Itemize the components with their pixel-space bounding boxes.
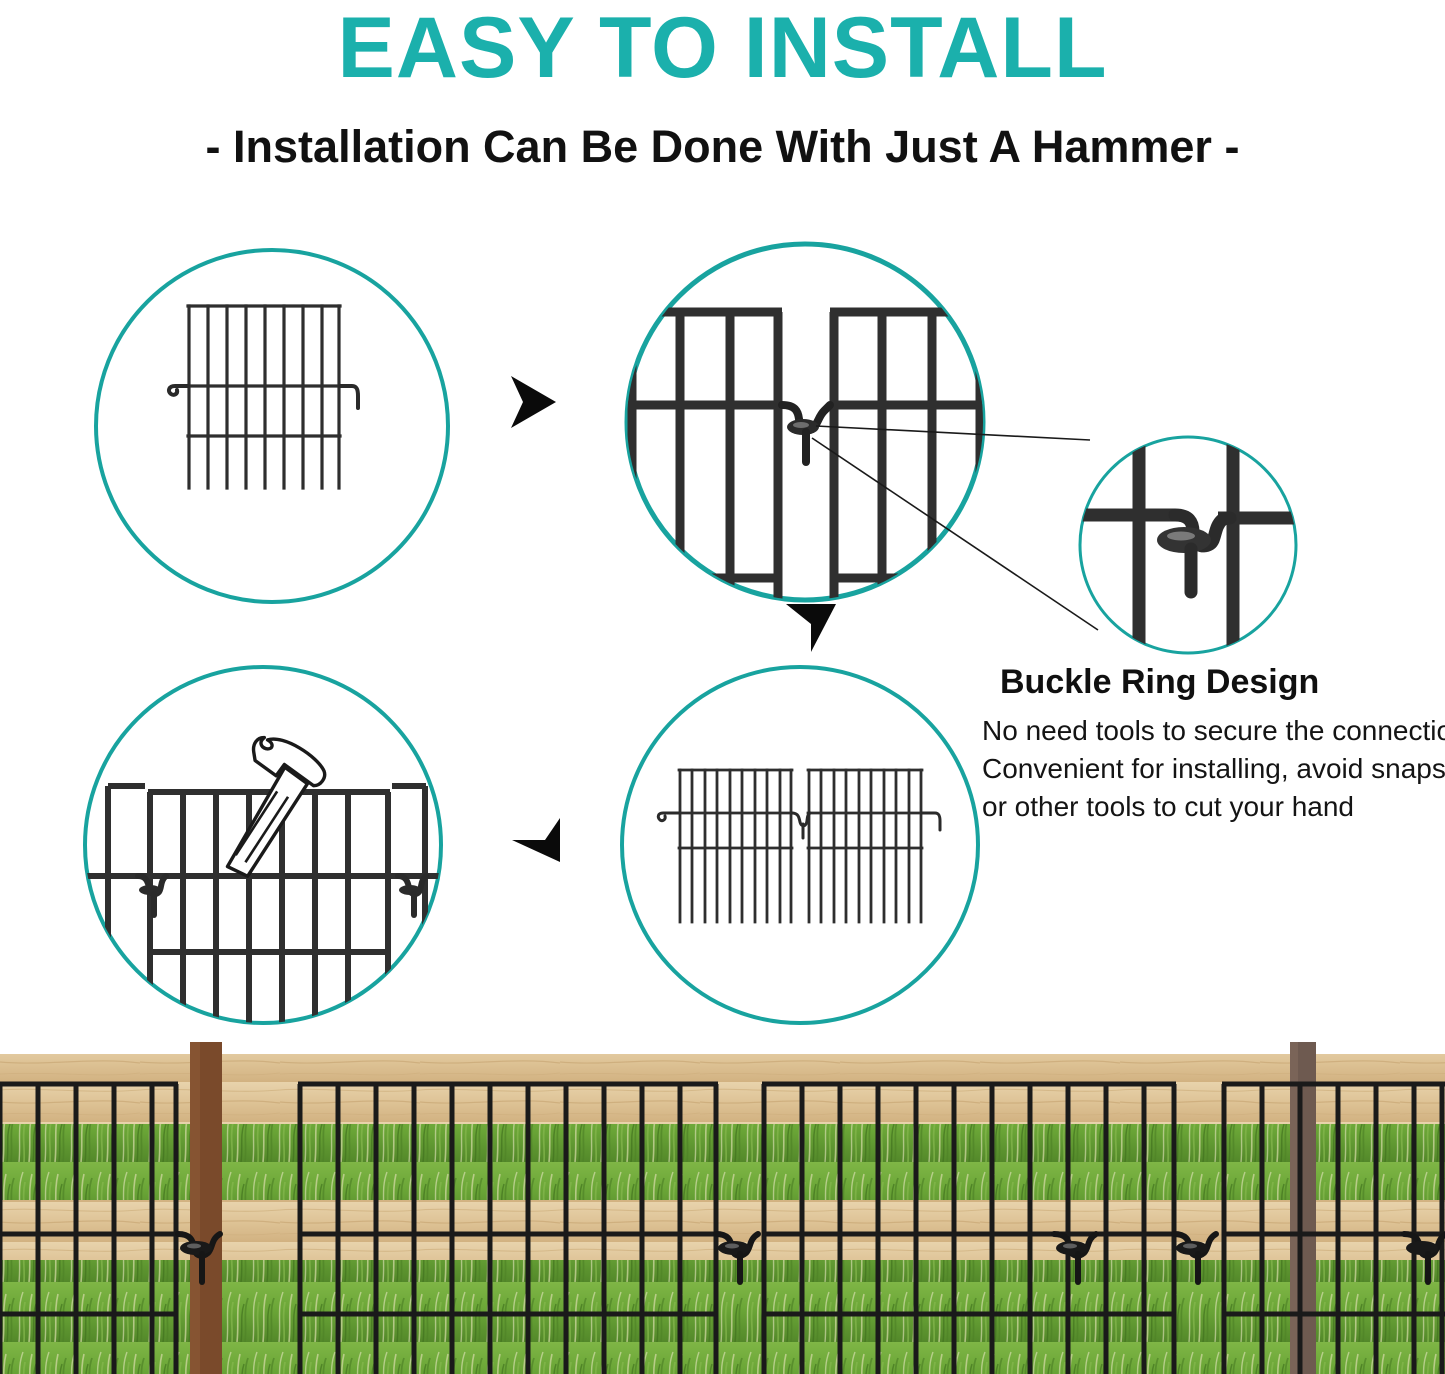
infographic-page: EASY TO INSTALL - Installation Can Be Do… xyxy=(0,0,1445,1374)
diagram-svg xyxy=(0,200,1445,1042)
step-3-circle xyxy=(622,667,978,1023)
step-4-illustration xyxy=(78,725,452,1042)
product-photo xyxy=(0,1042,1445,1374)
hook-right-icon xyxy=(340,386,358,408)
hook-left-end-icon xyxy=(658,813,679,821)
page-subtitle: - Installation Can Be Done With Just A H… xyxy=(0,118,1445,176)
product-photo-svg xyxy=(0,1042,1445,1374)
step-3-group xyxy=(622,667,978,1023)
hammer-icon xyxy=(187,725,331,882)
step-1-illustration xyxy=(169,306,358,488)
buckle-right-icon xyxy=(398,876,426,915)
step-1-group xyxy=(96,250,448,602)
hook-right-end-icon xyxy=(922,813,940,830)
buckle-ring-heading: Buckle Ring Design xyxy=(1000,660,1440,704)
buckle-centre-icon xyxy=(792,813,810,826)
buckle-desc-line-1: No need tools to secure the connection xyxy=(982,712,1445,750)
detail-leader-lines xyxy=(812,426,1098,630)
step-3-illustration xyxy=(658,770,940,922)
page-title: EASY TO INSTALL xyxy=(0,2,1445,94)
installation-diagram xyxy=(0,200,1445,1042)
arrow-down-icon xyxy=(786,604,836,652)
hook-left-icon xyxy=(169,386,188,395)
buckle-desc-line-2: Convenient for installing, avoid snaps xyxy=(982,750,1445,788)
arrow-right-icon xyxy=(511,376,556,428)
step-4-group xyxy=(78,667,452,1042)
step-2-illustration xyxy=(628,270,985,620)
buckle-ring-icon xyxy=(782,405,830,462)
buckle-ring-description: No need tools to secure the connection C… xyxy=(982,712,1445,826)
step-1-circle xyxy=(96,250,448,602)
arrow-left-icon xyxy=(512,818,560,862)
buckle-detail-group xyxy=(1080,437,1298,655)
buckle-desc-line-3: or other tools to cut your hand xyxy=(982,788,1445,826)
